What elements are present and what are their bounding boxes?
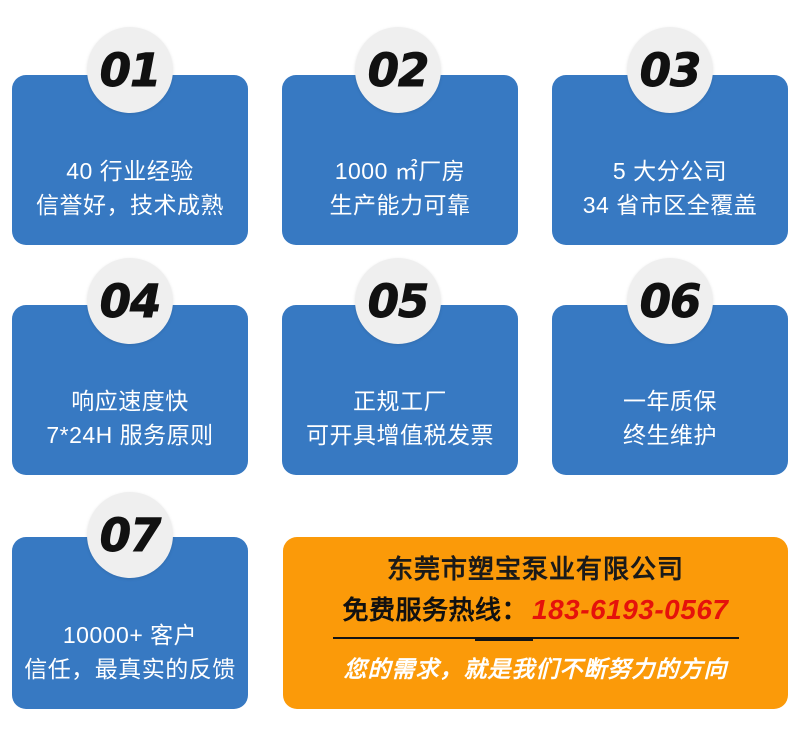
hotline-label: 免费服务热线：	[343, 590, 529, 627]
feature-card-06-text: 一年质保 终生维护	[552, 388, 788, 449]
feature-card-07-number: 07	[100, 513, 161, 558]
hotline-row: 免费服务热线： 183-6193-0567	[343, 590, 729, 627]
feature-card-07-line-2: 信任，最真实的反馈	[24, 656, 236, 683]
feature-card-06-line-1: 一年质保	[623, 388, 717, 415]
feature-card-04-line-1: 响应速度快	[71, 388, 189, 415]
feature-card-06-number-badge: 06	[627, 258, 713, 344]
feature-card-02-number: 02	[368, 48, 429, 93]
feature-card-04-text: 响应速度快 7*24H 服务原则	[12, 388, 248, 449]
feature-card-07-line-1: 10000+ 客户	[63, 622, 197, 649]
feature-card-03-line-2: 34 省市区全覆盖	[583, 192, 757, 219]
feature-card-03-text: 5 大分公司 34 省市区全覆盖	[552, 158, 788, 219]
feature-card-02-text: 1000 ㎡厂房 生产能力可靠	[282, 158, 518, 219]
feature-card-04-number-badge: 04	[87, 258, 173, 344]
feature-card-01-text: 40 行业经验 信誉好，技术成熟	[12, 158, 248, 219]
feature-card-06-line-2: 终生维护	[623, 422, 717, 449]
feature-card-01-line-1: 40 行业经验	[66, 158, 193, 185]
divider-thick-accent	[475, 637, 533, 641]
feature-card-02-number-badge: 02	[355, 27, 441, 113]
feature-card-01-number: 01	[100, 48, 161, 93]
feature-card-03-number: 03	[640, 48, 701, 93]
feature-card-03-line-1: 5 大分公司	[613, 158, 727, 185]
feature-card-03-number-badge: 03	[627, 27, 713, 113]
feature-card-05-number: 05	[368, 279, 429, 324]
feature-card-04-number: 04	[100, 279, 161, 324]
feature-card-02-line-1: 1000 ㎡厂房	[335, 158, 466, 185]
feature-card-01-line-2: 信誉好，技术成熟	[36, 192, 224, 219]
company-name: 东莞市塑宝泵业有限公司	[387, 553, 684, 586]
contact-panel: 东莞市塑宝泵业有限公司 免费服务热线： 183-6193-0567 您的需求，就…	[283, 537, 788, 709]
feature-card-07-text: 10000+ 客户 信任，最真实的反馈	[12, 622, 248, 683]
feature-card-05-text: 正规工厂 可开具增值税发票	[282, 388, 518, 449]
feature-card-07-number-badge: 07	[87, 492, 173, 578]
feature-card-05-number-badge: 05	[355, 258, 441, 344]
feature-card-02-line-2: 生产能力可靠	[330, 192, 471, 219]
slogan: 您的需求，就是我们不断努力的方向	[344, 650, 728, 684]
divider	[333, 636, 739, 641]
feature-card-04-line-2: 7*24H 服务原则	[46, 422, 213, 449]
feature-card-06-number: 06	[640, 279, 701, 324]
hotline-number[interactable]: 183-6193-0567	[532, 594, 728, 626]
feature-card-05-line-1: 正规工厂	[353, 388, 447, 415]
divider-thin-rule	[333, 637, 739, 639]
feature-card-01-number-badge: 01	[87, 27, 173, 113]
feature-card-05-line-2: 可开具增值税发票	[306, 422, 494, 449]
promo-banner: 40 行业经验 信誉好，技术成熟 01 1000 ㎡厂房 生产能力可靠 02 5…	[0, 0, 800, 741]
